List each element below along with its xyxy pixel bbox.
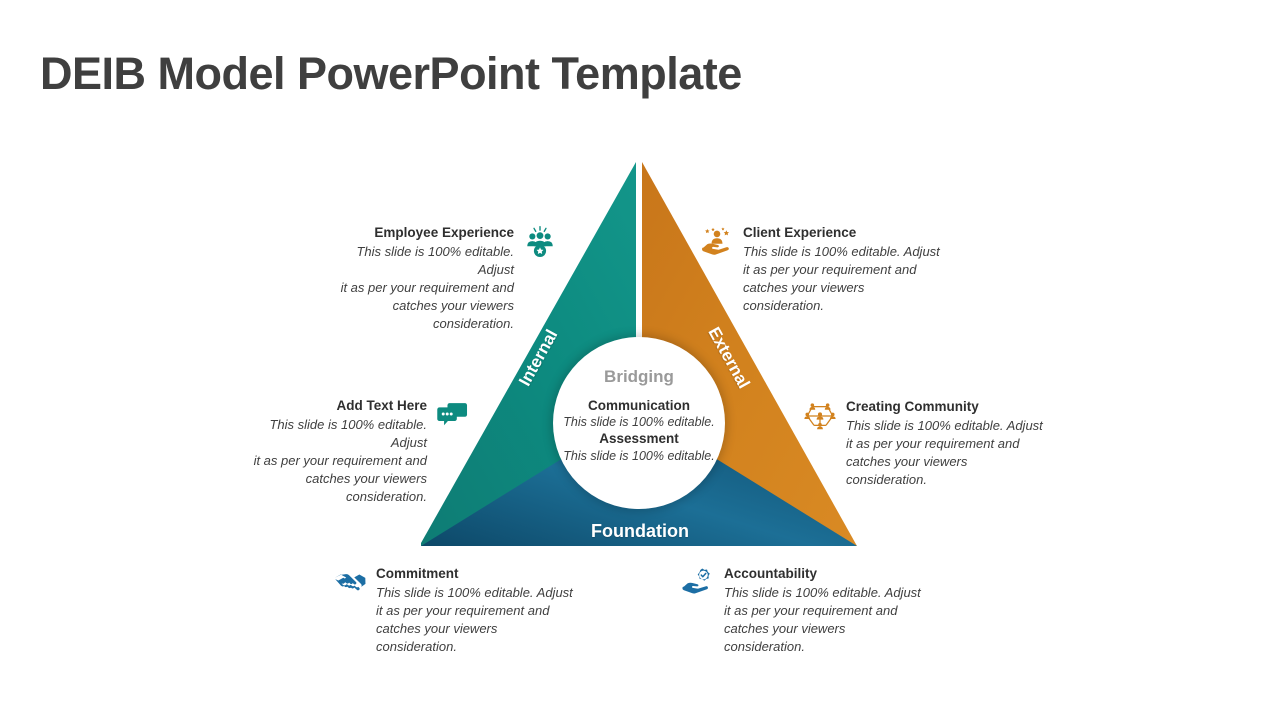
center-heading: Bridging	[604, 368, 674, 385]
callout-accountability[interactable]: Accountability This slide is 100% editab…	[681, 565, 936, 656]
callout-body: This slide is 100% editable. Adjust it a…	[846, 417, 1046, 489]
speech-bubbles-icon	[436, 398, 470, 432]
callout-body: This slide is 100% editable. Adjust it a…	[724, 584, 924, 656]
center-item-1-title: Communication	[588, 397, 690, 414]
callout-body: This slide is 100% editable. Adjust it a…	[335, 243, 514, 333]
callout-commitment[interactable]: Commitment This slide is 100% editable. …	[333, 565, 588, 656]
callout-title: Employee Experience	[374, 224, 514, 242]
callout-employee-experience[interactable]: Employee Experience This slide is 100% e…	[335, 224, 557, 333]
people-group-star-icon	[523, 225, 557, 259]
hand-holding-person-stars-icon	[700, 225, 734, 259]
callout-body: This slide is 100% editable. Adjust it a…	[743, 243, 943, 315]
triangle-label-foundation: Foundation	[591, 521, 689, 542]
deib-triangle-diagram: Internal External Foundation Bridging Co…	[0, 0, 1280, 720]
callout-title: Accountability	[724, 565, 924, 583]
callout-title: Commitment	[376, 565, 576, 583]
callout-body: This slide is 100% editable. Adjust it a…	[235, 416, 427, 506]
people-network-icon	[803, 399, 837, 433]
slide-canvas: DEIB Model PowerPoint Template	[0, 0, 1280, 720]
center-item-2-body: This slide is 100% editable.	[563, 448, 714, 464]
callout-title: Add Text Here	[336, 397, 427, 415]
callout-body: This slide is 100% editable. Adjust it a…	[376, 584, 576, 656]
center-item-2-title: Assessment	[599, 430, 679, 447]
callout-client-experience[interactable]: Client Experience This slide is 100% edi…	[700, 224, 950, 315]
callout-add-text-here[interactable]: Add Text Here This slide is 100% editabl…	[235, 397, 473, 506]
handshake-icon	[333, 566, 367, 600]
center-item-1-body: This slide is 100% editable.	[563, 414, 714, 430]
callout-creating-community[interactable]: Creating Community This slide is 100% ed…	[803, 398, 1053, 489]
callout-title: Client Experience	[743, 224, 943, 242]
center-circle[interactable]: Bridging Communication This slide is 100…	[553, 337, 725, 509]
callout-title: Creating Community	[846, 398, 1046, 416]
hand-holding-badge-icon	[681, 566, 715, 600]
